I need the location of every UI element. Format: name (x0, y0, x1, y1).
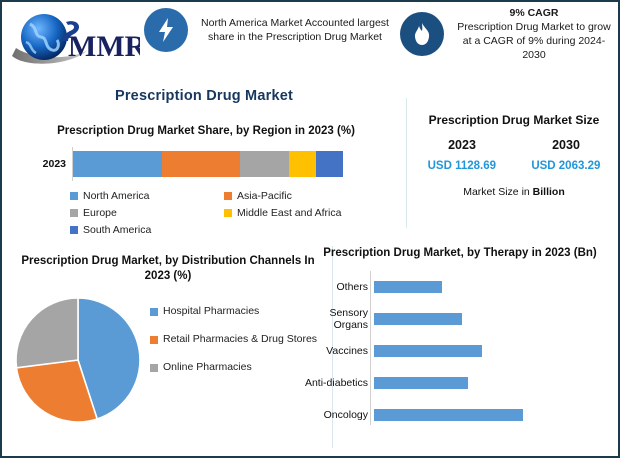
pie-swatch-hospital (150, 308, 158, 316)
therapy-row-vaccines: Vaccines (302, 335, 618, 367)
legend-swatch-asia-pacific (224, 192, 232, 200)
region-stacked-bar (73, 151, 343, 177)
kpi-cagr: 9% CAGR Prescription Drug Market to grow… (400, 6, 616, 62)
legend-item-asia-pacific: Asia-Pacific (224, 189, 402, 203)
legend-label-europe: Europe (83, 206, 117, 220)
therapy-row-anti-diabetics: Anti-diabetics (302, 367, 618, 399)
legend-label-asia-pacific: Asia-Pacific (237, 189, 292, 203)
therapy-chart-title: Prescription Drug Market, by Therapy in … (302, 246, 618, 261)
pie-swatch-online (150, 364, 158, 372)
kpi-cagr-text: 9% CAGR Prescription Drug Market to grow… (452, 6, 616, 62)
legend-swatch-europe (70, 209, 78, 217)
therapy-row-oncology: Oncology (302, 399, 618, 431)
therapy-bar-anti-diabetics (374, 377, 468, 389)
market-size-value-2023: USD 1128.69 (428, 160, 496, 172)
region-segment-europe (240, 151, 289, 177)
legend-item-middle-east-africa: Middle East and Africa (224, 206, 402, 220)
pie-graphic (8, 290, 150, 435)
therapy-bar-vaccines (374, 345, 482, 357)
therapy-label-sensory-organs: Sensory Organs (302, 307, 372, 331)
kpi-cagr-headline: 9% CAGR (452, 6, 616, 20)
therapy-bar-sensory-organs (374, 313, 462, 325)
therapy-chart: Prescription Drug Market, by Therapy in … (302, 246, 618, 431)
lightning-bolt-icon (144, 8, 188, 52)
market-size-year-2023: 2023 (448, 138, 476, 152)
infographic-canvas: MMR North America Market Accounted large… (0, 0, 620, 458)
kpi-cagr-body: Prescription Drug Market to grow at a CA… (457, 21, 610, 61)
therapy-plot-area: Others Sensory Organs Vaccines Anti-diab… (302, 271, 618, 431)
legend-item-south-america: South America (70, 223, 220, 237)
region-share-chart: Prescription Drug Market Share, by Regio… (10, 124, 402, 237)
therapy-label-oncology: Oncology (302, 409, 372, 421)
logo-text: MMR (68, 30, 140, 63)
legend-swatch-south-america (70, 226, 78, 234)
legend-label-north-america: North America (83, 189, 150, 203)
therapy-bar-others (374, 281, 442, 293)
region-plot-area: 2023 (10, 147, 402, 181)
legend-swatch-middle-east-africa (224, 209, 232, 217)
legend-label-south-america: South America (83, 223, 151, 237)
pie-swatch-retail (150, 336, 158, 344)
region-axis-label: 2023 (10, 158, 72, 170)
therapy-label-vaccines: Vaccines (302, 345, 372, 357)
kpi-north-america-text: North America Market Accounted largest s… (196, 16, 394, 44)
pie-chart-title: Prescription Drug Market, by Distributio… (8, 254, 328, 284)
market-size-title: Prescription Drug Market Size (410, 112, 618, 128)
pie-label-online: Online Pharmacies (163, 360, 252, 374)
region-chart-title: Prescription Drug Market Share, by Regio… (10, 124, 402, 139)
pie-label-retail: Retail Pharmacies & Drug Stores (163, 332, 317, 346)
therapy-row-others: Others (302, 271, 618, 303)
distribution-channels-chart: Prescription Drug Market, by Distributio… (8, 254, 328, 435)
market-size-years: 2023 2030 (410, 138, 618, 152)
market-size-value-2030: USD 2063.29 (531, 160, 600, 172)
region-segment-asia-pacific (162, 151, 240, 177)
flame-icon (400, 12, 444, 56)
region-segment-middle-east-africa (289, 151, 316, 177)
market-size-footnote-prefix: Market Size in (463, 186, 532, 198)
legend-swatch-north-america (70, 192, 78, 200)
legend-item-europe: Europe (70, 206, 220, 220)
therapy-label-anti-diabetics: Anti-diabetics (302, 377, 372, 389)
kpi-north-america: North America Market Accounted largest s… (144, 8, 394, 52)
therapy-row-sensory-organs: Sensory Organs (302, 303, 618, 335)
mmr-logo: MMR (8, 6, 148, 76)
market-size-footnote-unit: Billion (533, 186, 565, 198)
market-size-values: USD 1128.69 USD 2063.29 (410, 160, 618, 172)
pie-row: Hospital Pharmacies Retail Pharmacies & … (8, 290, 328, 435)
pie-slice-2 (16, 298, 78, 368)
globe-swoosh-icon: MMR (8, 10, 140, 72)
region-legend: North America Asia-Pacific Europe Middle… (70, 189, 402, 237)
header-bar: MMR North America Market Accounted large… (2, 2, 618, 80)
region-segment-south-america (316, 151, 343, 177)
page-title: Prescription Drug Market (2, 88, 406, 104)
market-size-panel: Prescription Drug Market Size 2023 2030 … (410, 112, 618, 198)
region-segment-north-america (73, 151, 162, 177)
legend-label-middle-east-africa: Middle East and Africa (237, 206, 341, 220)
pie-label-hospital: Hospital Pharmacies (163, 304, 259, 318)
panel-divider-top (406, 98, 407, 228)
market-size-footnote: Market Size in Billion (410, 186, 618, 198)
therapy-bar-oncology (374, 409, 523, 421)
therapy-label-others: Others (302, 281, 372, 293)
market-size-year-2030: 2030 (552, 138, 580, 152)
legend-item-north-america: North America (70, 189, 220, 203)
